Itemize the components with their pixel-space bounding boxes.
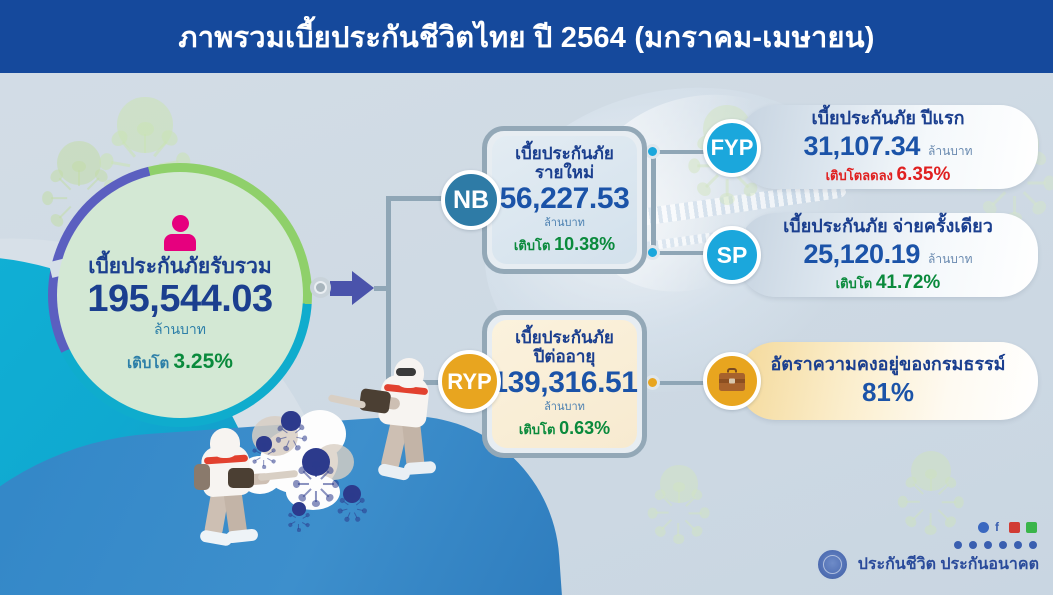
nb-growth-value: 10.38% [554, 234, 615, 254]
arrow-tail [330, 281, 352, 296]
worker-figure [182, 422, 292, 552]
flow-arrow [352, 271, 374, 305]
virus-icon [294, 440, 338, 484]
arrow-origin-dot [310, 277, 331, 298]
sp-growth-prefix: เติบโต [836, 276, 873, 291]
infographic-root: ภาพรวมเบี้ยประกันชีวิตไทย ปี 2564 (มกราค… [0, 0, 1053, 595]
fyp-growth-prefix: เติบโตลดลง [826, 168, 893, 183]
ryp-value: 139,316.51 [491, 367, 637, 399]
fyp-value-row: 31,107.34 ล้านบาท [803, 131, 972, 162]
sp-growth-value: 41.72% [876, 272, 940, 293]
worker-shoe [225, 528, 258, 543]
briefcase-icon [717, 368, 747, 394]
persistency-label: อัตราความคงอยู่ของกรมธรรม์ [770, 354, 1005, 375]
nb-label-line1: เบี้ยประกันภัย [515, 144, 614, 163]
globe-icon[interactable] [978, 522, 989, 533]
footer-tagline: ประกันชีวิต ประกันอนาคต [858, 552, 1039, 577]
worker-figure [338, 362, 448, 494]
virus-icon [102, 82, 188, 168]
sprayer-tank [228, 468, 254, 488]
person-icon [163, 215, 197, 251]
fyp-growth: เติบโตลดลง 6.35% [826, 164, 951, 186]
worker-visor [396, 368, 416, 376]
node-dot-sp [645, 245, 660, 260]
fyp-growth-value: 6.35% [897, 164, 951, 185]
facebook-icon[interactable]: f [995, 522, 1003, 533]
sp-pill[interactable]: เบี้ยประกันภัย จ่ายครั้งเดียว 25,120.19 … [738, 213, 1038, 297]
sp-badge[interactable]: SP [703, 226, 761, 284]
nb-growth-prefix: เติบโต [514, 238, 551, 253]
nb-badge-label: NB [453, 186, 489, 215]
persistency-pill[interactable]: อัตราความคงอยู่ของกรมธรรม์ 81% [738, 342, 1038, 420]
worker-shoe [404, 461, 437, 475]
ryp-badge[interactable]: RYP [438, 350, 501, 413]
youtube-icon[interactable] [1009, 522, 1020, 533]
fyp-pill[interactable]: เบี้ยประกันภัย ปีแรก 31,107.34 ล้านบาท เ… [738, 105, 1038, 189]
sp-value-row: 25,120.19 ล้านบาท [803, 239, 972, 270]
sp-value: 25,120.19 [803, 239, 920, 270]
sp-growth: เติบโต 41.72% [836, 272, 941, 294]
sp-unit: ล้านบาท [928, 250, 973, 269]
nb-value: 56,227.53 [500, 183, 630, 215]
total-premium-growth: เติบโต 3.25% [127, 350, 233, 375]
worker-backpack [194, 464, 210, 490]
social-icons: f [978, 522, 1037, 533]
ryp-label-line2: ปีต่ออายุ [534, 347, 596, 366]
ryp-badge-label: RYP [447, 369, 491, 395]
ryp-growth-value: 0.63% [559, 418, 610, 438]
node-dot-persistency [645, 375, 660, 390]
fyp-label: เบี้ยประกันภัย ปีแรก [811, 108, 964, 129]
fyp-unit: ล้านบาท [928, 142, 973, 161]
total-premium-label: เบี้ยประกันภัยรับรวม [88, 255, 271, 278]
total-premium-value: 195,544.03 [87, 280, 272, 320]
total-premium-circle: เบี้ยประกันภัยรับรวม 195,544.03 ล้านบาท … [48, 163, 312, 427]
tlaa-seal-logo [816, 548, 849, 581]
persistency-value: 81% [862, 377, 914, 408]
ryp-card-inner: เบี้ยประกันภัย ปีต่ออายุ 139,316.51 ล้าน… [492, 320, 637, 448]
ryp-unit: ล้านบาท [544, 397, 585, 415]
connector-to-nb [386, 196, 442, 201]
fyp-value: 31,107.34 [803, 131, 920, 162]
footer: ประกันชีวิต ประกันอนาคต [816, 548, 1039, 581]
nb-card-inner: เบี้ยประกันภัย รายใหม่ 56,227.53 ล้านบาท… [492, 136, 637, 264]
nb-card[interactable]: เบี้ยประกันภัย รายใหม่ 56,227.53 ล้านบาท… [482, 126, 647, 274]
nb-badge[interactable]: NB [441, 170, 501, 230]
fyp-badge-label: FYP [711, 135, 754, 161]
ryp-label-line1: เบี้ยประกันภัย [515, 328, 614, 347]
nb-label-line2: รายใหม่ [535, 163, 594, 182]
nb-growth: เติบโต 10.38% [514, 234, 615, 256]
line-icon[interactable] [1026, 522, 1037, 533]
fyp-badge[interactable]: FYP [703, 119, 761, 177]
growth-prefix: เติบโต [127, 355, 169, 372]
persistency-badge[interactable] [703, 352, 761, 410]
virus-icon [650, 455, 708, 513]
ryp-card[interactable]: เบี้ยประกันภัย ปีต่ออายุ 139,316.51 ล้าน… [482, 310, 647, 458]
worker-hood [210, 428, 240, 458]
total-premium-unit: ล้านบาท [154, 319, 206, 341]
ryp-growth: เติบโต 0.63% [519, 418, 610, 440]
virus-icon [900, 440, 962, 502]
growth-value: 3.25% [173, 350, 233, 373]
page-title: ภาพรวมเบี้ยประกันชีวิตไทย ปี 2564 (มกราค… [178, 14, 874, 60]
connector-nb-right-vertical [651, 150, 656, 254]
sp-badge-label: SP [717, 242, 748, 269]
node-dot-fyp [645, 144, 660, 159]
connector-horizontal-hero [374, 286, 388, 291]
sp-label: เบี้ยประกันภัย จ่ายครั้งเดียว [783, 216, 993, 237]
nb-unit: ล้านบาท [544, 213, 585, 231]
header-bar: ภาพรวมเบี้ยประกันชีวิตไทย ปี 2564 (มกราค… [0, 0, 1053, 73]
ryp-growth-prefix: เติบโต [519, 422, 556, 437]
total-premium-content: เบี้ยประกันภัยรับรวม 195,544.03 ล้านบาท … [57, 172, 303, 418]
